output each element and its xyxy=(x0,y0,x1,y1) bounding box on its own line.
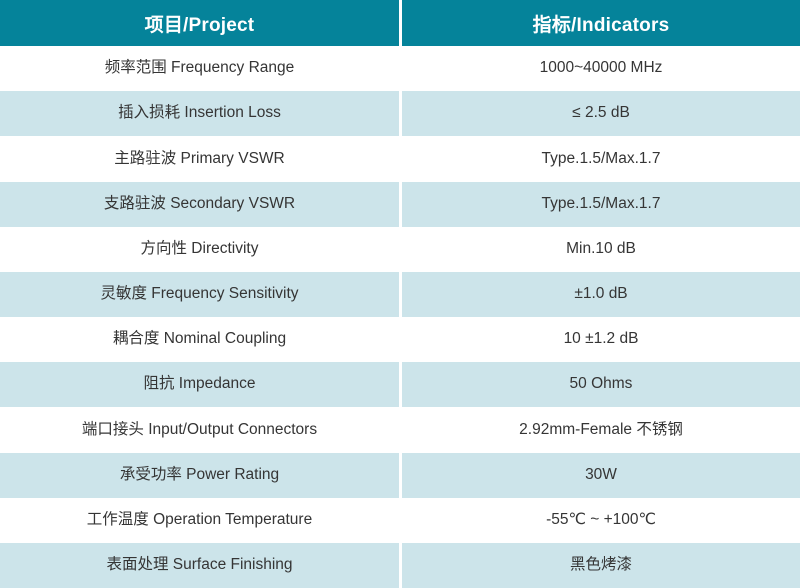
table-row: 插入损耗 Insertion Loss≤ 2.5 dB xyxy=(0,91,800,136)
specification-table: 项目/Project 指标/Indicators 频率范围 Frequency … xyxy=(0,0,800,588)
table-row: 表面处理 Surface Finishing黑色烤漆 xyxy=(0,543,800,588)
table-header-row: 项目/Project 指标/Indicators xyxy=(0,0,800,46)
table-body: 频率范围 Frequency Range1000~40000 MHz插入损耗 I… xyxy=(0,46,800,588)
table-row: 主路驻波 Primary VSWRType.1.5/Max.1.7 xyxy=(0,136,800,181)
cell-project: 表面处理 Surface Finishing xyxy=(0,543,399,588)
cell-indicator: 10 ±1.2 dB xyxy=(402,317,800,362)
cell-indicator: -55℃ ~ +100℃ xyxy=(402,498,800,543)
cell-project: 阻抗 Impedance xyxy=(0,362,399,407)
cell-project: 端口接头 Input/Output Connectors xyxy=(0,407,399,452)
column-header-indicators: 指标/Indicators xyxy=(402,0,800,46)
cell-project: 灵敏度 Frequency Sensitivity xyxy=(0,272,399,317)
table-row: 灵敏度 Frequency Sensitivity±1.0 dB xyxy=(0,272,800,317)
table-row: 端口接头 Input/Output Connectors2.92mm-Femal… xyxy=(0,407,800,452)
column-header-project: 项目/Project xyxy=(0,0,399,46)
table-row: 工作温度 Operation Temperature-55℃ ~ +100℃ xyxy=(0,498,800,543)
cell-indicator: 1000~40000 MHz xyxy=(402,46,800,91)
cell-indicator: 2.92mm-Female 不锈钢 xyxy=(402,407,800,452)
table-row: 耦合度 Nominal Coupling10 ±1.2 dB xyxy=(0,317,800,362)
cell-indicator: Type.1.5/Max.1.7 xyxy=(402,136,800,181)
cell-project: 工作温度 Operation Temperature xyxy=(0,498,399,543)
table-row: 频率范围 Frequency Range1000~40000 MHz xyxy=(0,46,800,91)
cell-indicator: 50 Ohms xyxy=(402,362,800,407)
cell-project: 方向性 Directivity xyxy=(0,227,399,272)
cell-indicator: ±1.0 dB xyxy=(402,272,800,317)
table-row: 阻抗 Impedance50 Ohms xyxy=(0,362,800,407)
cell-indicator: ≤ 2.5 dB xyxy=(402,91,800,136)
cell-project: 插入损耗 Insertion Loss xyxy=(0,91,399,136)
table-row: 方向性 DirectivityMin.10 dB xyxy=(0,227,800,272)
cell-indicator: Min.10 dB xyxy=(402,227,800,272)
cell-indicator: 30W xyxy=(402,453,800,498)
cell-project: 耦合度 Nominal Coupling xyxy=(0,317,399,362)
table-row: 承受功率 Power Rating30W xyxy=(0,453,800,498)
cell-project: 主路驻波 Primary VSWR xyxy=(0,136,399,181)
cell-indicator: 黑色烤漆 xyxy=(402,543,800,588)
cell-project: 频率范围 Frequency Range xyxy=(0,46,399,91)
cell-project: 支路驻波 Secondary VSWR xyxy=(0,182,399,227)
table-row: 支路驻波 Secondary VSWRType.1.5/Max.1.7 xyxy=(0,182,800,227)
cell-indicator: Type.1.5/Max.1.7 xyxy=(402,182,800,227)
cell-project: 承受功率 Power Rating xyxy=(0,453,399,498)
